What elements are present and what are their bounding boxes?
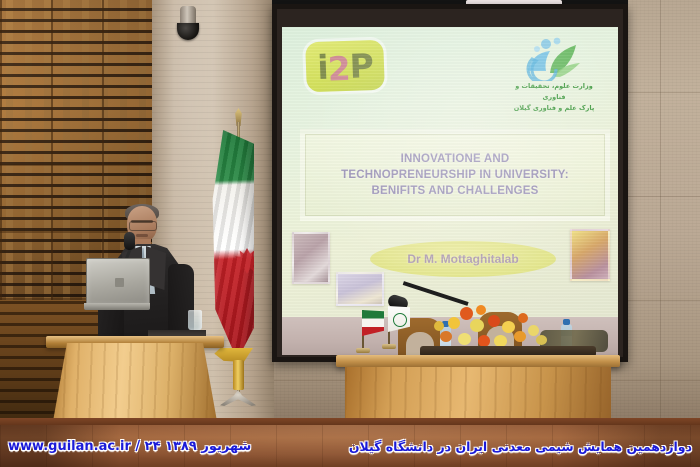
ministry-line-1: وزارت علوم، تحقیقات و فناوری	[506, 81, 602, 103]
flag-fringe	[211, 348, 253, 362]
panel-table-top	[336, 355, 620, 367]
science-park-logo-text: وزارت علوم، تحقیقات و فناوری پارک علم و …	[506, 81, 602, 114]
iran-flag-emblem-icon	[234, 248, 260, 274]
podium	[52, 343, 218, 427]
camera-dome	[177, 23, 199, 40]
floor-shadow	[0, 425, 700, 467]
slide-title-box: INNOVATIONE AND TECHNOPRENEURSHIP IN UNI…	[300, 129, 610, 221]
slide-thumbnail-3	[570, 229, 610, 281]
science-park-emblem-icon	[520, 37, 590, 81]
slide-presenter-name: Dr M. Mottaghitalab	[407, 252, 518, 266]
table-flag-base	[382, 344, 396, 349]
security-camera-icon	[176, 6, 200, 46]
i2p-logo: i2P	[305, 40, 385, 93]
table-flag-iran	[362, 310, 386, 342]
university-seal-icon	[393, 313, 407, 327]
i2p-logo-2: 2	[327, 51, 350, 85]
table-flag-cloth	[388, 306, 410, 332]
science-park-logo: وزارت علوم، تحقیقات و فناوری پارک علم و …	[506, 37, 602, 111]
table-flag-university	[388, 306, 412, 338]
table-flag-base	[356, 348, 370, 353]
laptop-lid	[86, 258, 150, 306]
slide-thumbnail-2	[336, 272, 384, 306]
panel-table-front	[345, 367, 611, 425]
flag-base	[220, 390, 256, 406]
slide-title-line-1: INNOVATIONE AND	[401, 153, 510, 165]
slide-presenter-ellipse: Dr M. Mottaghitalab	[370, 241, 556, 277]
i2p-logo-p: P	[349, 49, 373, 83]
slide-thumbnail-1	[292, 232, 330, 284]
slide-title-line-3: BENIFITS AND CHALLENGES	[371, 185, 538, 197]
iran-flag	[210, 130, 254, 360]
ministry-line-2: پارک علم و فناوری گیلان	[506, 103, 602, 114]
water-glass	[188, 310, 202, 330]
presentation-slide: i2P وزارت علوم، تحقیقات و فن	[282, 27, 618, 317]
conference-photo: i2P وزارت علوم، تحقیقات و فن	[0, 0, 700, 467]
laptop-logo-icon	[115, 278, 124, 287]
laptop-base	[84, 303, 150, 310]
presenter-laptop	[84, 258, 150, 314]
flag-collar	[233, 360, 244, 390]
table-flag-cloth	[362, 310, 384, 336]
mic-head	[124, 232, 135, 250]
slide-title-line-2: TECHNOPRENEURSHIP IN UNIVERSITY:	[341, 169, 569, 181]
